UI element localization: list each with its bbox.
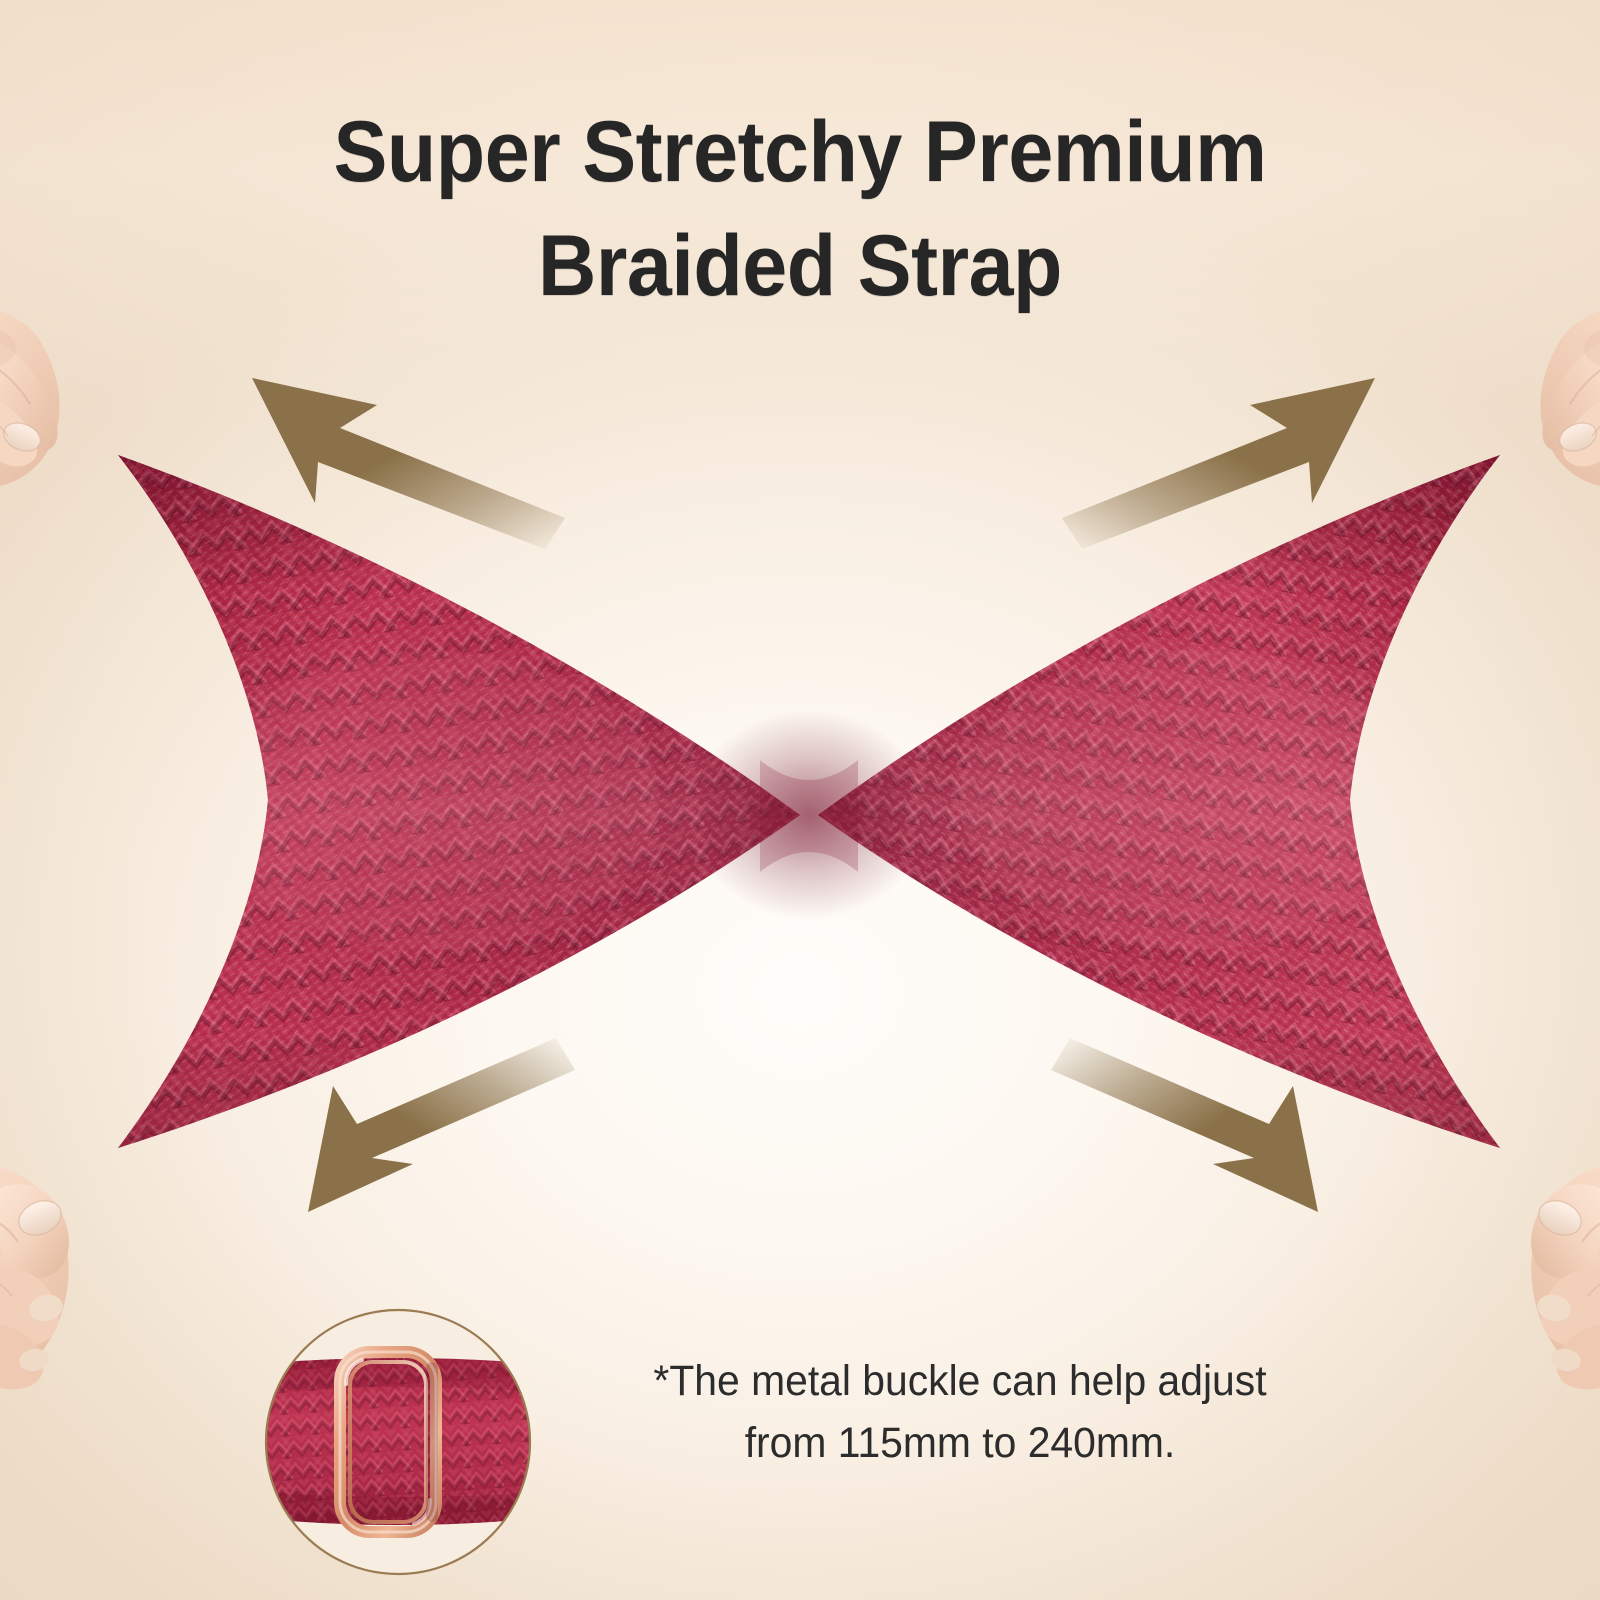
buckle-detail-inset <box>262 1306 534 1578</box>
arrow-up-left-icon <box>252 378 565 549</box>
headline-line-2: Braided Strap <box>48 210 1552 324</box>
caption-line-2: from 115mm to 240mm. <box>580 1412 1340 1474</box>
page-title: Super Stretchy Premium Braided Strap <box>0 96 1600 323</box>
hand-bottom-right <box>1396 1096 1600 1426</box>
hand-bottom-left <box>0 1096 204 1426</box>
arrow-up-right-icon <box>1062 378 1375 549</box>
product-marketing-image: Super Stretchy Premium Braided Strap <box>0 0 1600 1600</box>
arrow-down-left-icon <box>308 1038 575 1212</box>
arrow-down-right-icon <box>1051 1038 1318 1212</box>
buckle-caption: *The metal buckle can help adjust from 1… <box>580 1350 1340 1475</box>
hand-top-right <box>1410 300 1600 570</box>
headline-line-1: Super Stretchy Premium <box>48 96 1552 210</box>
caption-line-1: *The metal buckle can help adjust <box>580 1350 1340 1412</box>
hand-top-left <box>0 300 190 570</box>
